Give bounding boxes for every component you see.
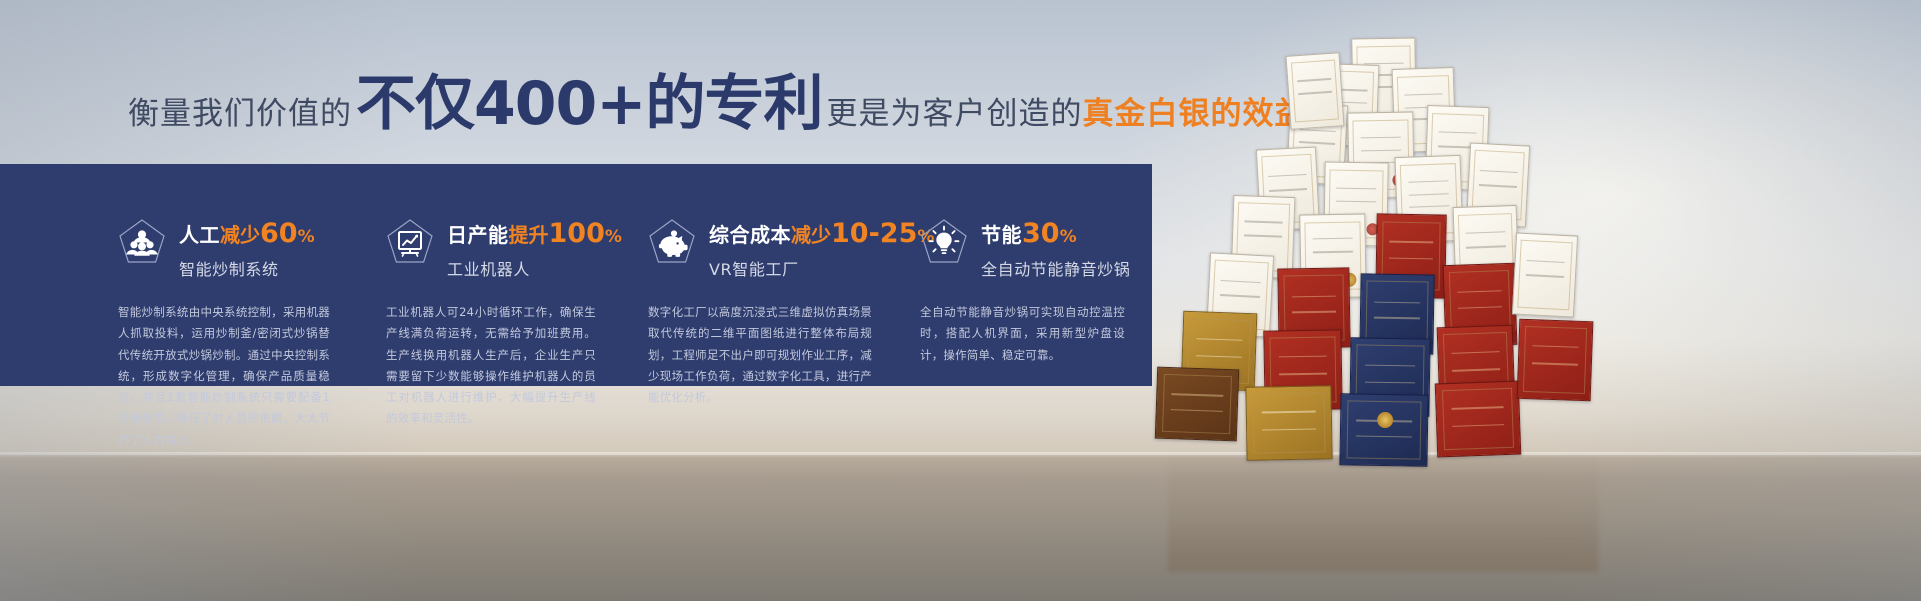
feature-subtitle: VR智能工厂 — [709, 256, 934, 280]
feature-panel: 人工减少60% 智能炒制系统 智能炒制系统由中央系统控制，采用机器人抓取投料，运… — [0, 164, 1152, 386]
page-title: 衡量我们价值的 不仅400+的专利 更是为客户创造的 真金白银的效益 — [128, 74, 1307, 138]
feature-unit: % — [1060, 227, 1077, 247]
horizon-line — [0, 452, 1921, 458]
headline-middle: 更是为客户创造的 — [827, 88, 1083, 133]
certificate-item — [1285, 52, 1344, 130]
feature-metric: 减少 — [791, 223, 831, 247]
feature-label: 人工 — [179, 223, 220, 247]
feature-body: 全自动节能静音炒锅可实现自动控温控时，搭配人机界面，采用新型炉盘设计，操作简单、… — [920, 302, 1125, 366]
feature-subtitle: 工业机器人 — [447, 256, 622, 280]
certificate-item — [1339, 393, 1428, 467]
headline-emphasis: 不仅400+的专利 — [356, 74, 823, 134]
feature-item-capacity: 日产能提升100% 工业机器人 工业机器人可24小时循环工作，确保生产线满负荷运… — [386, 164, 648, 386]
chart-board-icon — [386, 218, 434, 266]
feature-body: 智能炒制系统由中央系统控制，采用机器人抓取投料，运用炒制釜/密闭式炒锅替代传统开… — [118, 302, 330, 451]
feature-title: 综合成本减少10-25% — [709, 220, 934, 247]
certificate-item — [1435, 381, 1522, 458]
feature-label: 日产能 — [447, 223, 509, 247]
feature-unit: % — [605, 227, 622, 247]
certificate-item — [1517, 319, 1594, 402]
lightbulb-icon — [920, 218, 968, 266]
feature-label: 综合成本 — [709, 223, 791, 247]
background-seascape — [0, 455, 1921, 601]
feature-subtitle: 全自动节能静音炒锅 — [981, 256, 1130, 280]
feature-metric: 提升 — [509, 223, 549, 247]
feature-title: 节能30% — [981, 220, 1130, 247]
piggy-bank-icon — [648, 218, 696, 266]
feature-title: 人工减少60% — [179, 220, 315, 247]
feature-number: 10-25 — [831, 218, 917, 249]
feature-number: 60 — [260, 218, 298, 249]
feature-item-energy: 节能30% 全自动节能静音炒锅 全自动节能静音炒锅可实现自动控温控时，搭配人机界… — [920, 164, 1152, 386]
headline-lead: 衡量我们价值的 — [128, 88, 352, 133]
feature-metric: 减少 — [220, 223, 260, 247]
certificate-pyramid — [1148, 38, 1628, 468]
certificate-item — [1155, 367, 1239, 442]
feature-title: 日产能提升100% — [447, 220, 622, 247]
certificate-item — [1512, 232, 1578, 317]
people-group-icon — [118, 218, 166, 266]
feature-item-cost: 综合成本减少10-25% VR智能工厂 数字化工厂以高度沉浸式三维虚拟仿真场景取… — [648, 164, 920, 386]
banner-stage: 衡量我们价值的 不仅400+的专利 更是为客户创造的 真金白银的效益 — [0, 0, 1921, 601]
feature-number: 30 — [1022, 218, 1060, 249]
feature-item-labor: 人工减少60% 智能炒制系统 智能炒制系统由中央系统控制，采用机器人抓取投料，运… — [118, 164, 386, 386]
certificate-item — [1245, 385, 1332, 460]
feature-unit: % — [298, 227, 315, 247]
feature-body: 工业机器人可24小时循环工作，确保生产线满负荷运转，无需给予加班费用。生产线换用… — [386, 302, 596, 430]
feature-subtitle: 智能炒制系统 — [179, 256, 315, 280]
feature-number: 100 — [549, 218, 605, 249]
feature-label: 节能 — [981, 223, 1022, 247]
feature-body: 数字化工厂以高度沉浸式三维虚拟仿真场景取代传统的二维平面图纸进行整体布局规划，工… — [648, 302, 872, 408]
